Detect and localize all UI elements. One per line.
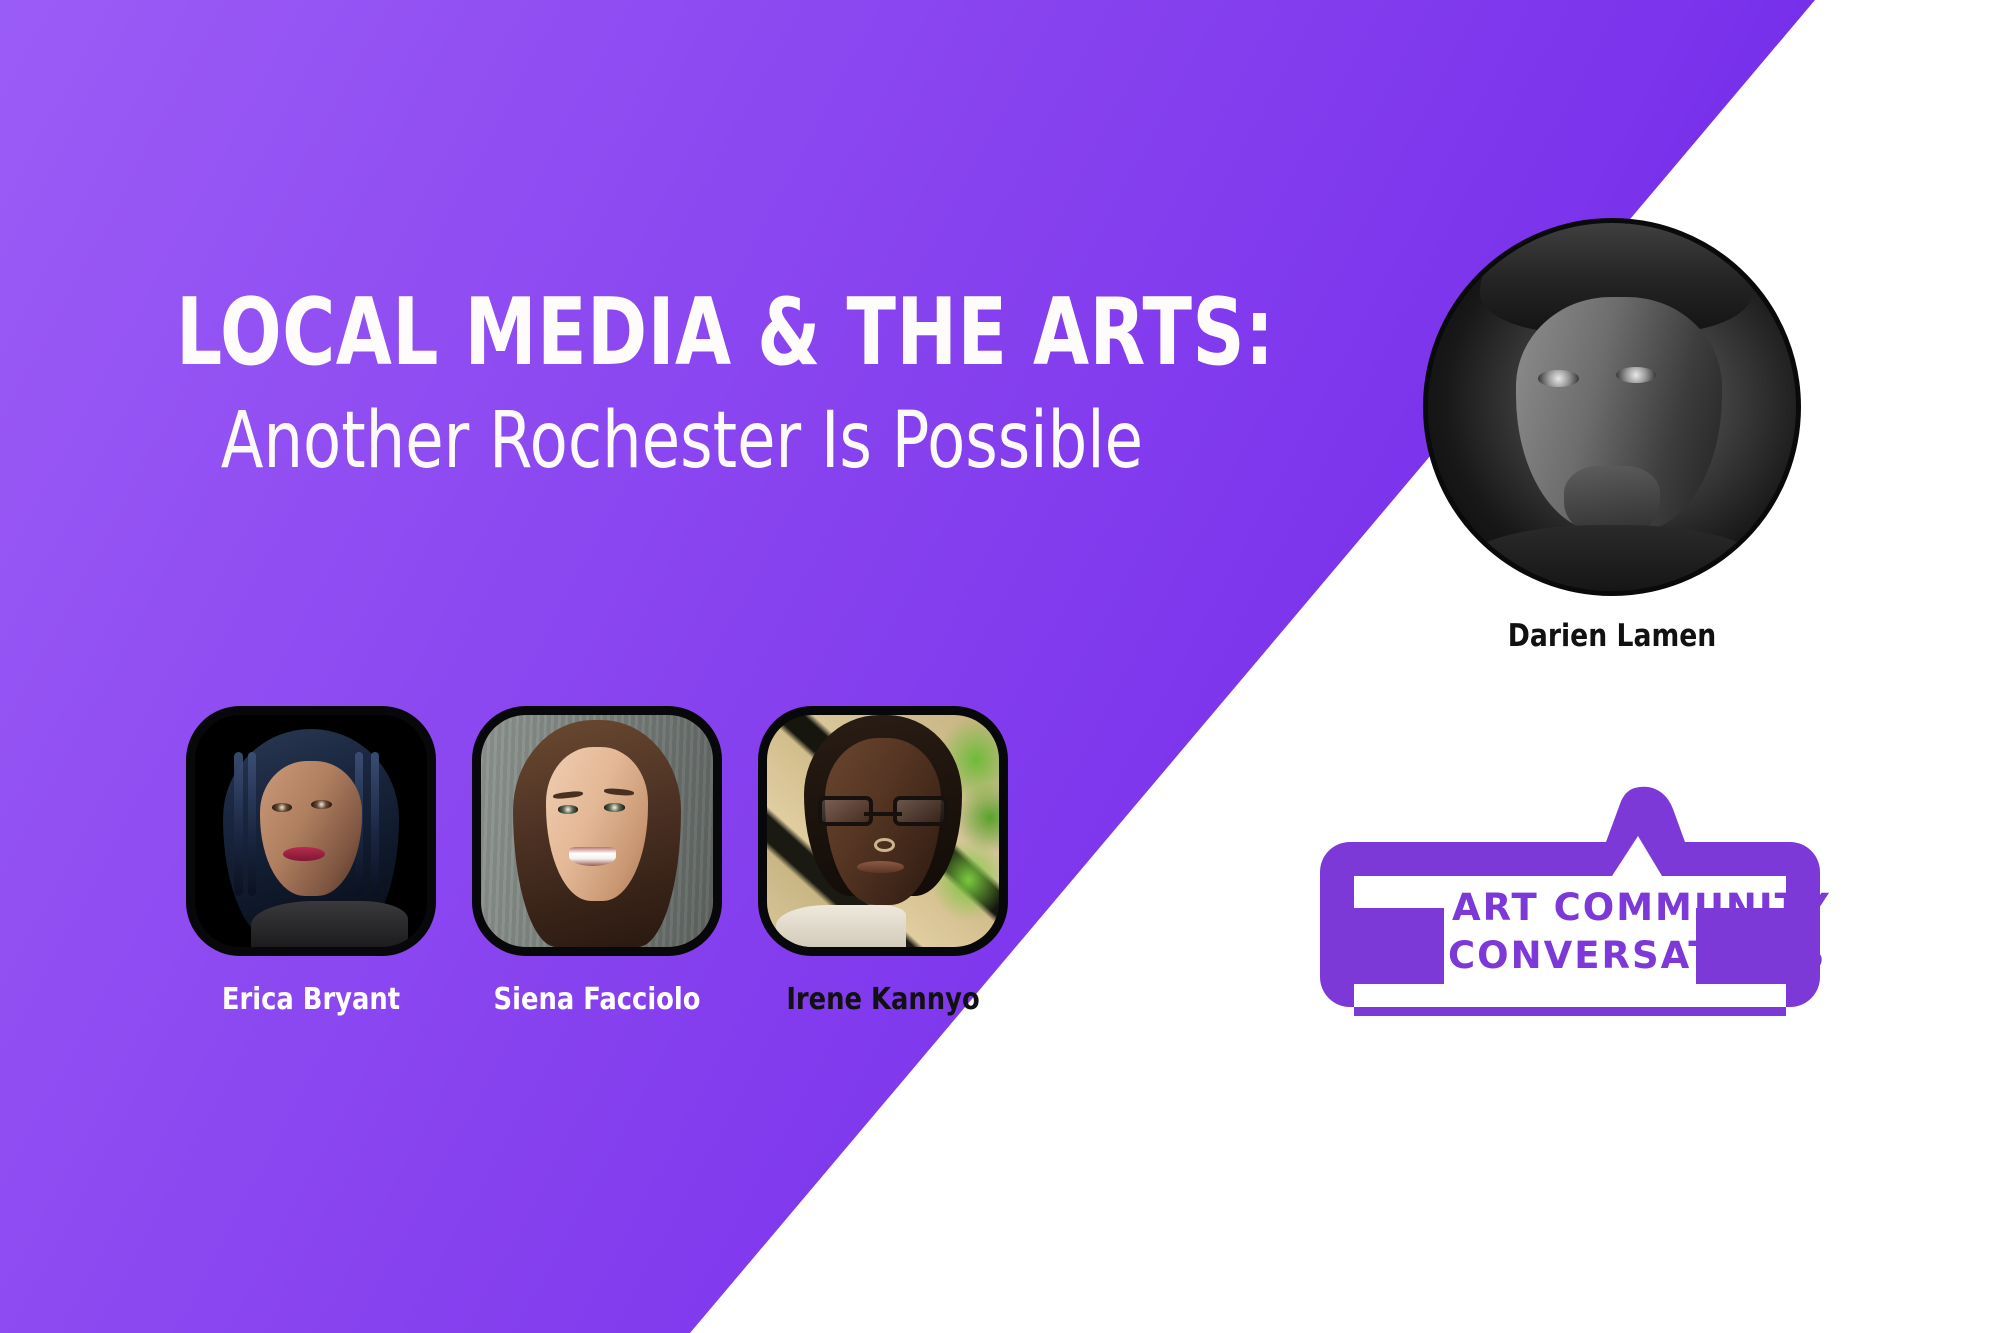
portrait-artwork-siena bbox=[481, 715, 713, 947]
featured-speaker: Darien Lamen bbox=[1423, 218, 1801, 654]
panelist-name-irene-kannyo: Irene Kannyo bbox=[776, 982, 991, 1017]
portrait-artwork-darien bbox=[1428, 223, 1796, 591]
logo-line-2: CONVERSATIONS bbox=[1448, 934, 1826, 977]
speaker-name-darien-lamen: Darien Lamen bbox=[1449, 618, 1774, 654]
event-promo-poster: LOCAL MEDIA & THE ARTS: Another Rocheste… bbox=[0, 0, 2000, 1333]
page-title: LOCAL MEDIA & THE ARTS: bbox=[176, 286, 1081, 379]
headline-block: LOCAL MEDIA & THE ARTS: Another Rocheste… bbox=[176, 286, 1336, 483]
panelist-irene-kannyo: Irene Kannyo bbox=[758, 706, 1008, 1017]
portrait-artwork-erica bbox=[195, 715, 427, 947]
portrait-artwork-irene bbox=[767, 715, 999, 947]
panelist-row: Erica Bryant Siena Facciolo bbox=[186, 706, 1008, 1017]
speech-bubble-badge-icon: ART COMMUNITY CONVERSATIONS bbox=[1310, 772, 1830, 1022]
logo-line-1: ART COMMUNITY bbox=[1452, 886, 1830, 929]
panelist-erica-bryant: Erica Bryant bbox=[186, 706, 436, 1017]
panelist-siena-facciolo: Siena Facciolo bbox=[472, 706, 722, 1017]
panelist-name-erica-bryant: Erica Bryant bbox=[204, 982, 419, 1017]
panelist-name-siena-facciolo: Siena Facciolo bbox=[490, 982, 705, 1017]
avatar-erica-bryant bbox=[186, 706, 436, 956]
avatar-siena-facciolo bbox=[472, 706, 722, 956]
art-community-conversations-logo: ART COMMUNITY CONVERSATIONS bbox=[1310, 772, 1830, 1022]
avatar-irene-kannyo bbox=[758, 706, 1008, 956]
page-subtitle: Another Rochester Is Possible bbox=[176, 401, 1104, 483]
avatar-darien-lamen bbox=[1423, 218, 1801, 596]
